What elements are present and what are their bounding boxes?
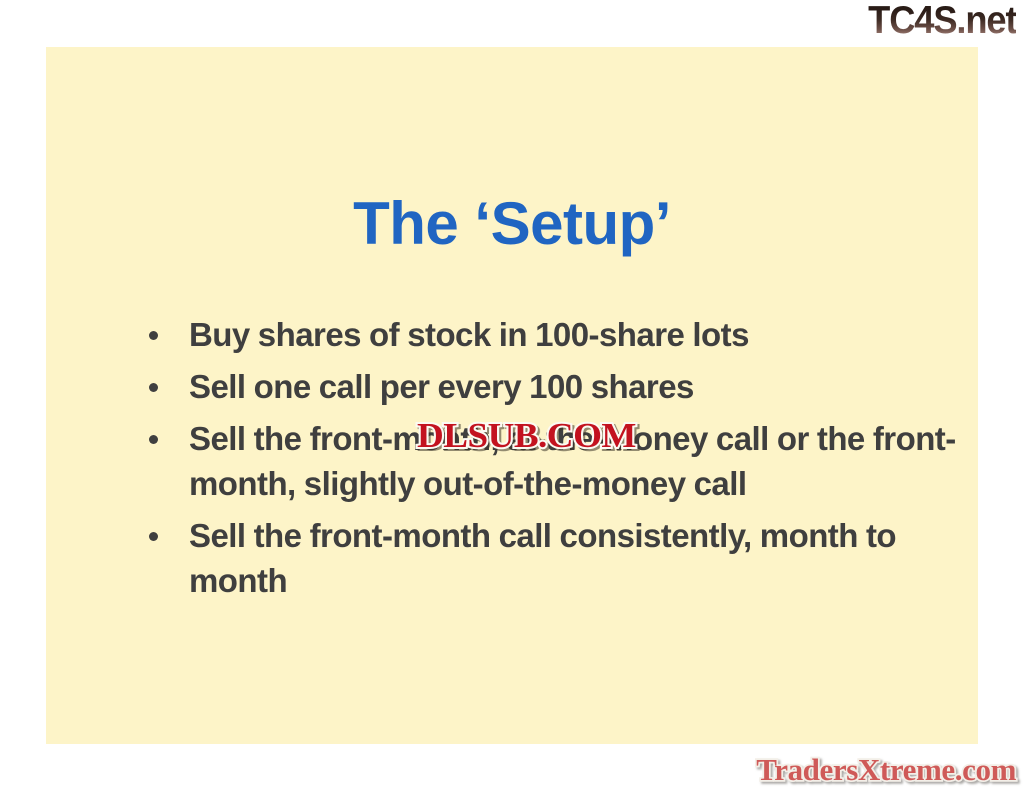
bullet-list: Buy shares of stock in 100-share lots Se…	[98, 312, 958, 610]
bullet-dot-icon	[149, 383, 158, 392]
overlay-watermark: DLSUB.COM	[417, 418, 636, 453]
list-item-label: Sell the front-month call consistently, …	[189, 513, 958, 603]
bullet-dot-icon	[149, 532, 158, 541]
list-item-label: Sell one call per every 100 shares	[189, 364, 958, 409]
slide-canvas: The ‘Setup’ Buy shares of stock in 100-s…	[0, 0, 1024, 791]
footer-watermark: TradersXtreme.com	[756, 753, 1016, 787]
slide-content-panel: The ‘Setup’ Buy shares of stock in 100-s…	[46, 47, 978, 744]
bullet-dot-icon	[149, 435, 158, 444]
bullet-dot-icon	[149, 331, 158, 340]
page-title: The ‘Setup’	[46, 191, 978, 257]
list-item: Sell one call per every 100 shares	[98, 364, 958, 409]
list-item: Sell the front-month call consistently, …	[98, 513, 958, 603]
list-item: Buy shares of stock in 100-share lots	[98, 312, 958, 357]
list-item-label: Buy shares of stock in 100-share lots	[189, 312, 958, 357]
brand-logo: TC4S.net	[868, 0, 1016, 42]
